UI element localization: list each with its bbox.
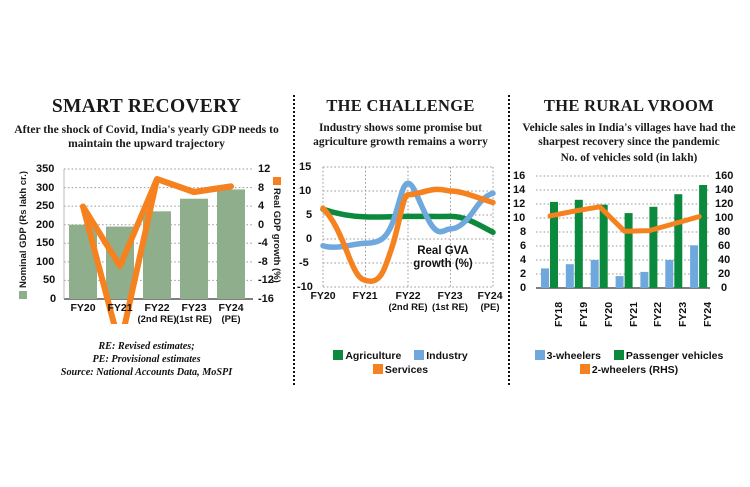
- chart-1-ytick-150: 150: [36, 237, 54, 249]
- chart-3-ytick-6: 6: [520, 240, 526, 252]
- note-source: Source: National Accounts Data, MoSPI: [6, 366, 287, 379]
- chart-3-ytick-2: 2: [520, 268, 526, 280]
- chart-2-ytick-neg5: -5: [299, 257, 309, 269]
- chart-3-ytick-8: 8: [520, 226, 526, 238]
- chart-3-xlabel-fy18: FY18: [553, 302, 565, 327]
- chart-1-ytick-200: 200: [36, 219, 54, 231]
- legend-item-2-wheelers: 2-wheelers (RHS): [580, 364, 678, 376]
- chart-3-y2tick-140: 140: [715, 184, 733, 196]
- legend-item-industry: Industry: [414, 350, 467, 362]
- chart-2-xsublabel-fy24: (PE): [470, 302, 510, 313]
- chart-1-y2tick-neg8: -8: [258, 256, 268, 268]
- legend-swatch-nominal-gdp: [19, 291, 27, 299]
- legend-item-passenger-vehicles: Passenger vehicles: [614, 350, 723, 362]
- chart-3-xlabel-fy21: FY21: [628, 302, 640, 327]
- chart-2: 15 10 5 0 -5 -10 FY20 FY21 FY22 FY23 FY2…: [297, 159, 504, 324]
- chart-2-ytick-0: 0: [306, 233, 312, 245]
- chart-3-y2tick-60: 60: [718, 240, 730, 252]
- chart-1-y2tick-neg4: -4: [258, 237, 268, 249]
- chart-3-xlabel-fy19: FY19: [578, 302, 590, 327]
- panel-2-subtitle: Industry shows some promise but agricult…: [297, 121, 504, 149]
- chart-3-y2tick-0: 0: [721, 282, 727, 294]
- chart-3: 16 14 12 10 8 6 4 2 0 160 140 120 100 80…: [512, 170, 746, 345]
- chart-3-ytick-16: 16: [513, 170, 525, 182]
- chart-1-ytick-350: 350: [36, 163, 54, 175]
- chart-1-y-axis-label: Nominal GDP (Rs lakh cr.): [18, 171, 29, 299]
- legend-label-services: Services: [385, 364, 428, 376]
- chart-3-xlabel-fy24: FY24: [702, 302, 714, 327]
- legend-item-services: Services: [373, 364, 428, 376]
- panels-container: SMART RECOVERY After the shock of Covid,…: [0, 0, 750, 487]
- legend-label-industry: Industry: [426, 350, 467, 362]
- chart-3-ytick-4: 4: [520, 254, 526, 266]
- chart-1-ytick-100: 100: [36, 256, 54, 268]
- chart-3-xlabel-fy23: FY23: [677, 302, 689, 327]
- chart-2-xlabel-fy21: FY21: [342, 290, 388, 302]
- panel-3-subtitle: Vehicle sales in India's villages have h…: [512, 121, 746, 149]
- chart-2-xlabel-fy20: FY20: [300, 290, 346, 302]
- legend-label-agriculture: Agriculture: [345, 350, 401, 362]
- legend-label-passenger-vehicles: Passenger vehicles: [626, 350, 723, 362]
- panel-1-subtitle: After the shock of Covid, India's yearly…: [6, 123, 287, 151]
- chart-2-xlabel-fy22: FY22: [385, 290, 431, 302]
- panel-1-title: SMART RECOVERY: [6, 96, 287, 118]
- chart-1-y2tick-neg12: -12: [258, 274, 274, 286]
- chart-3-legend: 3-wheelers Passenger vehicles 2-wheelers…: [508, 350, 750, 376]
- chart-1-xsublabel-fy24: (PE): [209, 314, 253, 325]
- chart-1-ytick-250: 250: [36, 200, 54, 212]
- panel-3-subtitle2: No. of vehicles sold (in lakh): [512, 152, 746, 164]
- chart-3-ytick-10: 10: [513, 212, 525, 224]
- chart-2-xlabel-fy23: FY23: [427, 290, 473, 302]
- chart-3-y2tick-120: 120: [715, 198, 733, 210]
- chart-3-y2tick-40: 40: [718, 254, 730, 266]
- panel-the-rural-vroom: THE RURAL VROOM Vehicle sales in India's…: [508, 0, 750, 487]
- chart-2-ytick-10: 10: [299, 185, 311, 197]
- infographic-page: SMART RECOVERY After the shock of Covid,…: [0, 0, 750, 487]
- legend-swatch-services: [373, 364, 383, 374]
- chart-2-annotation-line2: growth (%): [401, 258, 485, 271]
- chart-3-xlabel-fy22: FY22: [652, 302, 664, 327]
- chart-1-y2tick-0: 0: [258, 219, 264, 231]
- chart-2-ytick-5: 5: [306, 209, 312, 221]
- note-re: RE: Revised estimates;: [6, 340, 287, 353]
- chart-3-y2tick-20: 20: [718, 268, 730, 280]
- chart-1: Nominal GDP (Rs lakh cr.) Real GDP growt…: [6, 159, 287, 324]
- legend-item-agriculture: Agriculture: [333, 350, 401, 362]
- chart-1-ytick-50: 50: [43, 274, 55, 286]
- chart-2-annotation: Real GVA growth (%): [401, 245, 485, 271]
- chart-2-legend: Agriculture Industry Services: [293, 350, 508, 376]
- chart-1-y2tick-4: 4: [258, 200, 264, 212]
- panel-2-title: THE CHALLENGE: [297, 96, 504, 116]
- panel-1-notes: RE: Revised estimates; PE: Provisional e…: [6, 340, 287, 379]
- chart-3-ytick-0: 0: [520, 282, 526, 294]
- legend-label-2-wheelers: 2-wheelers (RHS): [592, 364, 678, 376]
- panel-smart-recovery: SMART RECOVERY After the shock of Covid,…: [0, 0, 293, 487]
- chart-1-xlabel-fy24: FY24: [206, 302, 256, 314]
- legend-swatch-passenger-vehicles: [614, 350, 624, 360]
- chart-1-ytick-0: 0: [50, 293, 56, 305]
- chart-2-ytick-15: 15: [299, 161, 311, 173]
- chart-1-y2tick-neg16: -16: [258, 293, 274, 305]
- legend-swatch-real-gdp-growth: [273, 177, 281, 185]
- panel-the-challenge: THE CHALLENGE Industry shows some promis…: [293, 0, 508, 487]
- chart-1-ytick-300: 300: [36, 182, 54, 194]
- legend-swatch-3-wheelers: [535, 350, 545, 360]
- chart-3-ytick-12: 12: [513, 198, 525, 210]
- legend-item-3-wheelers: 3-wheelers: [535, 350, 601, 362]
- chart-2-annotation-line1: Real GVA: [401, 245, 485, 258]
- chart-3-xlabel-fy20: FY20: [603, 302, 615, 327]
- chart-1-y2tick-12: 12: [258, 163, 270, 175]
- chart-2-xlabel-fy24: FY24: [469, 290, 511, 302]
- chart-3-ytick-14: 14: [513, 184, 525, 196]
- legend-swatch-2-wheelers: [580, 364, 590, 374]
- chart-1-y2-axis-label: Real GDP growth (%): [271, 177, 282, 283]
- legend-swatch-agriculture: [333, 350, 343, 360]
- legend-swatch-industry: [414, 350, 424, 360]
- chart-2-xsublabel-fy23: (1st RE): [425, 302, 475, 313]
- chart-1-y2tick-8: 8: [258, 182, 264, 194]
- chart-3-y2tick-80: 80: [718, 226, 730, 238]
- chart-3-y2tick-100: 100: [715, 212, 733, 224]
- legend-label-3-wheelers: 3-wheelers: [547, 350, 601, 362]
- panel-3-title: THE RURAL VROOM: [512, 96, 746, 116]
- chart-3-y2tick-160: 160: [715, 170, 733, 182]
- note-pe: PE: Provisional estimates: [6, 353, 287, 366]
